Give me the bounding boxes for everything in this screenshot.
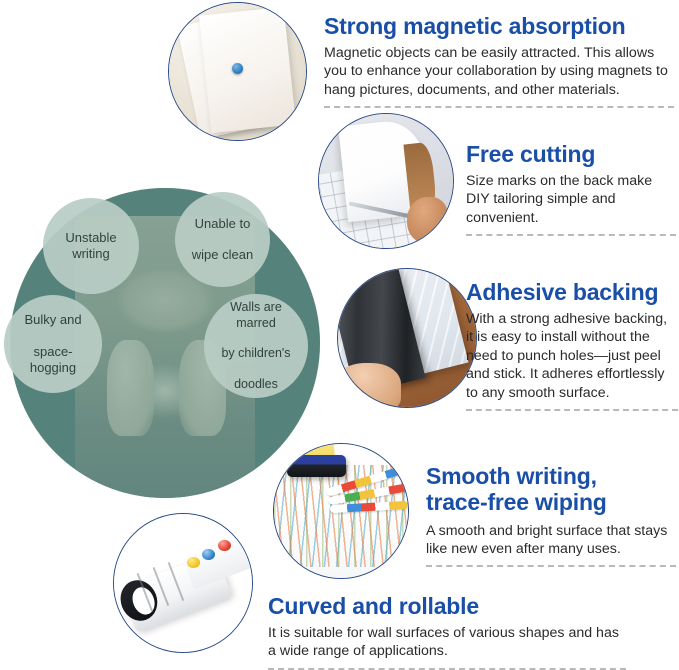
infographic-canvas: Strong magnetic absorption Magnetic obje… <box>0 0 679 669</box>
pain-bubble-unable-to-wipe-clean: Unable to wipe clean <box>175 192 270 287</box>
section-divider <box>466 234 676 236</box>
pain-bubble-label-line-2: by children's <box>210 346 302 361</box>
curved-rollable-photo <box>113 513 253 653</box>
feature-heading: Curved and rollable <box>268 594 626 620</box>
feature-body: It is suitable for wall surfaces of vari… <box>268 624 626 661</box>
pain-bubble-label-line-2: space-hogging <box>10 344 96 376</box>
feature-heading-line-2: trace-free wiping <box>426 489 607 515</box>
adhesive-backing-photo <box>337 268 477 408</box>
feature-body: Size marks on the back make DIY tailorin… <box>466 172 676 227</box>
pain-bubble-label-line-1: Unable to <box>186 216 259 232</box>
feature-block-free-cutting: Free cutting Size marks on the back make… <box>466 142 676 236</box>
feature-heading: Smooth writing, trace-free wiping <box>426 464 676 516</box>
feature-body: Magnetic objects can be easily attracted… <box>324 44 674 99</box>
magnetic-sheet-photo <box>168 2 307 141</box>
pain-bubble-label-line-3: doodles <box>210 377 302 392</box>
feature-block-smooth-writing: Smooth writing, trace-free wiping A smoo… <box>426 464 676 567</box>
section-divider <box>324 106 674 108</box>
feature-block-strong-magnetic-absorption: Strong magnetic absorption Magnetic obje… <box>324 14 674 108</box>
feature-block-adhesive-backing: Adhesive backing With a strong adhesive … <box>466 280 678 411</box>
free-cutting-photo <box>318 113 454 249</box>
feature-heading: Adhesive backing <box>466 280 678 306</box>
feature-body: With a strong adhesive backing, it is ea… <box>466 310 678 402</box>
feature-heading: Free cutting <box>466 142 676 168</box>
feature-heading: Strong magnetic absorption <box>324 14 674 40</box>
feature-body: A smooth and bright surface that stays l… <box>426 522 676 559</box>
feature-block-curved-and-rollable: Curved and rollable It is suitable for w… <box>268 594 626 670</box>
pain-bubble-unstable-writing: Unstable writing <box>43 198 139 294</box>
feature-heading-line-1: Smooth writing, <box>426 463 597 489</box>
pain-bubble-bulky-and-space-hogging: Bulky and space-hogging <box>4 295 102 393</box>
pain-bubble-walls-marred: Walls are marred by children's doodles <box>204 294 308 398</box>
pain-bubble-label-line-1: Bulky and <box>10 312 96 328</box>
section-divider <box>426 565 676 567</box>
pain-bubble-label-line-2: wipe clean <box>186 247 259 263</box>
pain-bubble-label-line-1: Walls are marred <box>210 300 302 331</box>
pain-bubble-label: Unstable writing <box>43 230 139 262</box>
section-divider <box>466 409 678 411</box>
